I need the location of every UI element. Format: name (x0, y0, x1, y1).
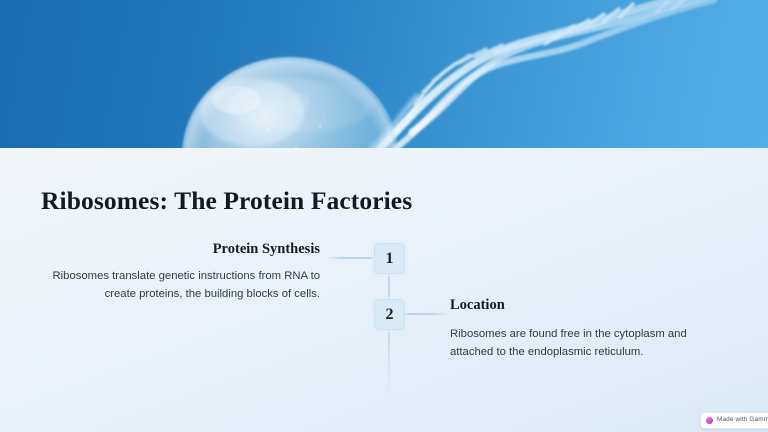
timeline-item-1-body: Ribosomes translate genetic instructions… (48, 267, 320, 304)
timeline-number-2: 2 (386, 306, 394, 324)
made-with-gamma-label: Made with Gamma (717, 417, 768, 423)
connector-line-2 (404, 313, 450, 315)
timeline-number-1: 1 (386, 250, 394, 268)
timeline-number-badge-2: 2 (374, 299, 405, 330)
timeline-item-1-heading: Protein Synthesis (48, 242, 320, 258)
dna-helix-illustration (0, 0, 768, 148)
slide: Ribosomes: The Protein Factories 1 2 Pro… (0, 0, 768, 432)
gamma-logo-icon (706, 417, 713, 424)
hero-image (0, 0, 768, 148)
timeline-item-2: Location Ribosomes are found free in the… (450, 298, 728, 362)
timeline-item-1: Protein Synthesis Ribosomes translate ge… (48, 242, 320, 304)
made-with-gamma-badge[interactable]: Made with Gamma (700, 412, 768, 429)
connector-line-1 (326, 257, 373, 259)
timeline-number-badge-1: 1 (374, 243, 405, 274)
page-title: Ribosomes: The Protein Factories (41, 186, 412, 216)
timeline-item-2-body: Ribosomes are found free in the cytoplas… (450, 325, 728, 362)
timeline-item-2-heading: Location (450, 298, 728, 314)
